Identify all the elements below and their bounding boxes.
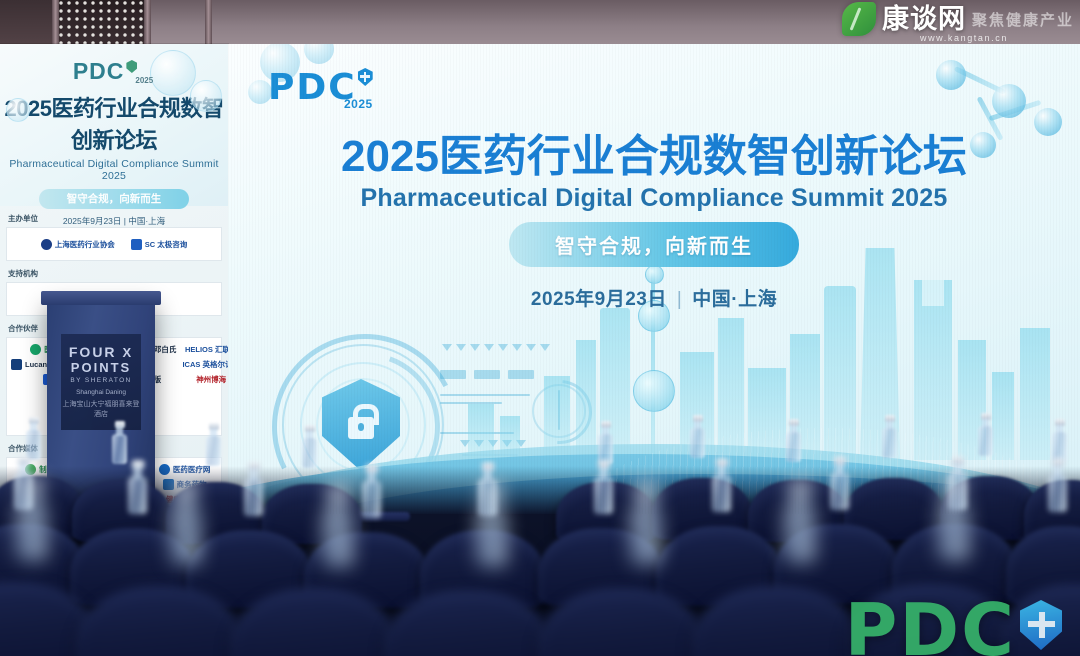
sponsor-logo-label: HELIOS 汇联易 [185, 344, 228, 355]
podium-brand-line1: FOUR X [69, 345, 133, 360]
sponsor-logo: SC 太极咨询 [131, 239, 188, 250]
sponsor-logo-row-organizer: 上海医药行业协会 SC 太极咨询 [6, 227, 222, 261]
sponsor-logo-label: 上海医药行业协会 [55, 239, 115, 250]
podium-brand-cn: 上海宝山大宁福朋喜来登酒店 [61, 399, 141, 419]
sponsor-logo-label: ICAS 英格尔认证 [182, 359, 228, 370]
decorative-bubble [6, 98, 30, 122]
side-banner-logo-year: 2025 [135, 76, 153, 85]
podium-brand-line4: Shanghai Daning [76, 389, 126, 396]
event-location: 中国·上海 [692, 289, 777, 310]
page-subtitle: Pharmaceutical Digital Compliance Summit… [228, 184, 1080, 213]
podium-brand-plate: FOUR X POINTS BY SHERATON Shanghai Danin… [61, 334, 141, 430]
pdc-logo-year: 2025 [344, 97, 373, 111]
podium-brand-line3: BY SHERATON [70, 377, 131, 384]
sponsor-logo: HELIOS 汇联易 [185, 344, 228, 355]
side-banner-date: 2025年9月23日 | 中国·上海 [0, 215, 228, 227]
sponsor-logo-label: SC 太极咨询 [145, 239, 188, 250]
podium-brand-x: X [122, 345, 133, 360]
shield-cross-icon [358, 68, 373, 86]
decorative-bubble [150, 50, 196, 96]
tagline-badge: 智守合规，向新而生 [509, 222, 799, 267]
conference-photo-stage: PDC2025 2025医药行业合规数智创新论坛 Pharmaceutical … [0, 0, 1080, 656]
page-title: 2025医药行业合规数智创新论坛 [228, 120, 1080, 184]
shield-icon [126, 60, 137, 73]
sponsor-logo: 上海医药行业协会 [41, 239, 115, 250]
event-date-location: 2025年9月23日|中国·上海 [228, 284, 1080, 311]
side-banner-hero: PDC2025 2025医药行业合规数智创新论坛 Pharmaceutical … [0, 44, 228, 206]
pdc-watermark-text: PDC [845, 601, 1016, 656]
event-date: 2025年9月23日 [531, 289, 667, 310]
watermark-url: www.kangtan.cn [920, 33, 1008, 43]
tagline-container: 智守合规，向新而生 [228, 222, 1080, 267]
pdc-watermark-bottom: PDC [845, 600, 1062, 656]
pdc-logo: PDC 2025 [268, 70, 373, 106]
watermark-slogan: 聚焦健康产业 [972, 9, 1074, 30]
main-led-screen: PDC 2025 2025医药行业合规数智创新论坛 Pharmaceutical… [228, 44, 1080, 514]
site-watermark-top: 康谈网 www.kangtan.cn 聚焦健康产业 [842, 2, 1074, 36]
watermark-brand-name: 康谈网 [882, 6, 966, 33]
podium-brand-line2: POINTS [71, 360, 131, 375]
shield-cross-icon [1020, 600, 1062, 650]
side-banner-logo-text: PDC [73, 58, 125, 85]
side-banner-subtitle: Pharmaceutical Digital Compliance Summit… [0, 158, 228, 182]
podium-top [41, 291, 161, 305]
podium-brand-four: FOUR [69, 344, 117, 360]
sponsor-logo: ICAS 英格尔认证 [182, 359, 228, 370]
sponsor-logo: 神州博海 [196, 374, 226, 385]
separator: | [677, 289, 682, 310]
sponsor-logo-label: 神州博海 [196, 374, 226, 385]
leaf-logo-icon [842, 2, 876, 36]
decorative-bubble [190, 80, 222, 112]
sponsor-section-label-support: 支持机构 [8, 268, 228, 279]
side-banner-tagline: 智守合规，向新而生 [39, 189, 189, 209]
